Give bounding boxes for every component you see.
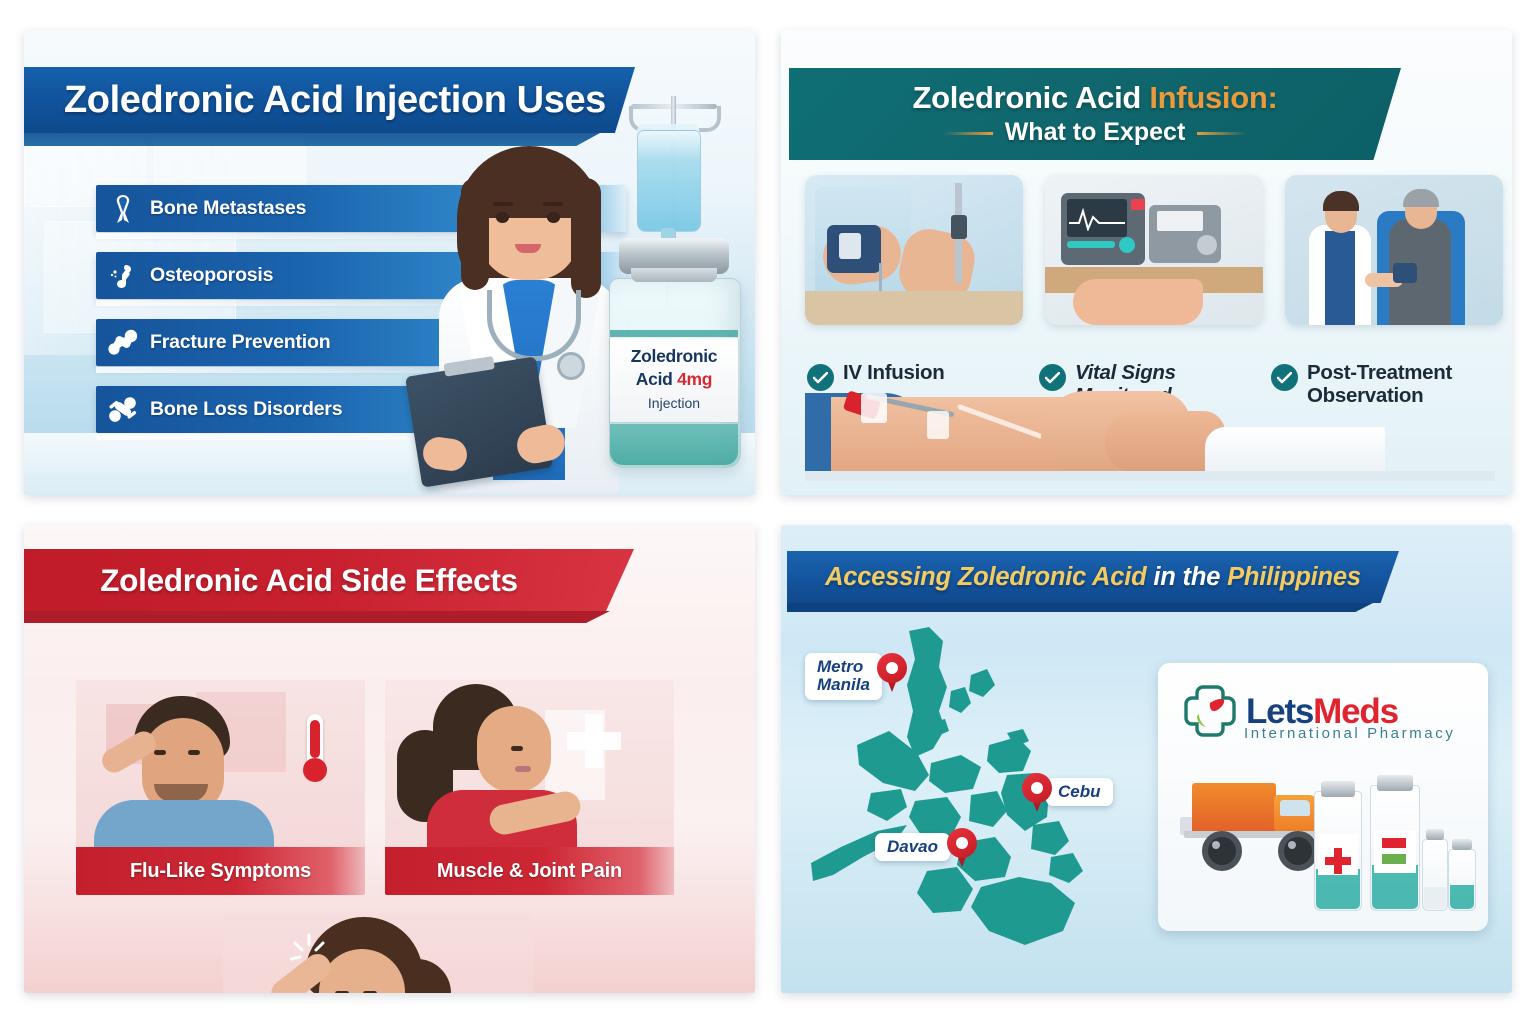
panel2-title-banner: Zoledronic Acid Infusion: What to Expect bbox=[789, 68, 1401, 160]
panel2-title-main: Zoledronic Acid bbox=[912, 80, 1149, 115]
zoledronic-acid-vial: Zoledronic Acid 4mg Injection bbox=[601, 238, 747, 470]
doctor-and-vial-illustration: Zoledronic Acid 4mg Injection bbox=[425, 90, 755, 495]
panel2-subtitle-row: What to Expect bbox=[789, 118, 1401, 147]
infographic-grid: Zoledronic Acid Injection Uses Bone Meta… bbox=[0, 0, 1536, 1024]
panel4-title-part-2: Zoledronic Acid bbox=[958, 563, 1147, 591]
side-effect-label-bar: Muscle & Joint Pain bbox=[385, 847, 674, 895]
panel3-title: Zoledronic Acid Side Effects bbox=[100, 562, 518, 599]
panel-side-effects: Zoledronic Acid Side Effects bbox=[24, 525, 755, 993]
side-effect-card-flu[interactable]: Flu-Like Symptoms bbox=[76, 680, 365, 895]
panel4-title-part-3: in the bbox=[1147, 563, 1228, 591]
panel-injection-uses: Zoledronic Acid Injection Uses Bone Meta… bbox=[24, 30, 755, 495]
side-effect-cards: Flu-Like Symptoms Muscle & Joint Pain bbox=[76, 680, 674, 895]
title-banner-shadow bbox=[787, 603, 1373, 612]
vial-label: Zoledronic Acid 4mg Injection bbox=[610, 338, 738, 422]
map-pin-davao[interactable] bbox=[947, 828, 977, 868]
check-circle-icon bbox=[1271, 364, 1298, 391]
checklist-label: IV Infusion bbox=[843, 362, 944, 385]
medicine-vials-illustration bbox=[1304, 765, 1474, 915]
vial-line-2: Acid 4mg bbox=[610, 369, 738, 390]
side-effect-card-headache[interactable]: Headache & Fatigue bbox=[149, 913, 607, 993]
doctor-avatar bbox=[431, 138, 627, 495]
panel4-title-banner: Accessing Zoledronic Acid in the Philipp… bbox=[787, 551, 1399, 603]
vital-signs-monitor-photo bbox=[1045, 175, 1263, 325]
map-pin-cebu[interactable] bbox=[1022, 773, 1052, 813]
pharmacy-cross-logo-icon bbox=[1180, 683, 1240, 741]
bone-icon bbox=[96, 260, 150, 292]
awareness-ribbon-icon bbox=[96, 193, 150, 225]
panel2-title-accent: Infusion: bbox=[1149, 80, 1277, 115]
check-circle-icon bbox=[807, 364, 834, 391]
letsmeds-brand-card[interactable]: LetsMeds International Pharmacy bbox=[1158, 663, 1488, 931]
map-label-cebu[interactable]: Cebu bbox=[1046, 778, 1113, 806]
vial-line-3: Injection bbox=[610, 395, 738, 411]
brand-tagline: International Pharmacy bbox=[1244, 725, 1455, 742]
panel2-title: Zoledronic Acid Infusion: bbox=[789, 80, 1401, 116]
delivery-truck-icon bbox=[1174, 773, 1324, 865]
map-pin-metro-manila[interactable] bbox=[877, 653, 907, 693]
vial-drug-name: Acid bbox=[636, 369, 673, 389]
panel2-subtitle: What to Expect bbox=[1005, 118, 1186, 146]
headache-fatigue-photo bbox=[223, 913, 533, 993]
panel-accessing-philippines: Accessing Zoledronic Acid in the Philipp… bbox=[781, 525, 1512, 993]
list-item-label: Bone Metastases bbox=[150, 197, 306, 220]
side-effect-label: Flu-Like Symptoms bbox=[130, 860, 311, 883]
fractured-bone-icon bbox=[96, 328, 150, 358]
title-banner-shadow bbox=[24, 611, 610, 623]
map-label-metro-manila[interactable]: Metro Manila bbox=[805, 653, 882, 700]
dash-left-icon bbox=[943, 132, 993, 135]
panel4-title-part-4: Philippines bbox=[1227, 563, 1361, 591]
panel-infusion-what-to-expect: Zoledronic Acid Infusion: What to Expect bbox=[781, 30, 1512, 495]
side-effect-card-muscle[interactable]: Muscle & Joint Pain bbox=[385, 680, 674, 895]
map-label-davao[interactable]: Davao bbox=[875, 833, 950, 861]
side-effect-label: Muscle & Joint Pain bbox=[437, 860, 622, 883]
list-item-label: Fracture Prevention bbox=[150, 331, 330, 354]
list-item-label: Osteoporosis bbox=[150, 264, 273, 287]
nurse-with-patient-photo bbox=[1285, 175, 1503, 325]
panel4-title-part-1: Accessing bbox=[825, 563, 958, 591]
panel4-title: Accessing Zoledronic Acid in the Philipp… bbox=[825, 563, 1361, 592]
side-effect-label-bar: Flu-Like Symptoms bbox=[76, 847, 365, 895]
infusion-photo-cards bbox=[805, 175, 1503, 325]
dash-right-icon bbox=[1197, 132, 1247, 135]
iv-line-in-arm-photo bbox=[805, 389, 1495, 481]
list-item-label: Bone Loss Disorders bbox=[150, 398, 342, 421]
vial-dose: 4mg bbox=[677, 369, 712, 389]
vial-line-1: Zoledronic bbox=[610, 346, 738, 367]
cracked-bone-icon bbox=[96, 395, 150, 425]
blood-pressure-cuff-photo bbox=[805, 175, 1023, 325]
check-circle-icon bbox=[1039, 364, 1066, 391]
panel3-title-banner: Zoledronic Acid Side Effects bbox=[24, 549, 634, 611]
